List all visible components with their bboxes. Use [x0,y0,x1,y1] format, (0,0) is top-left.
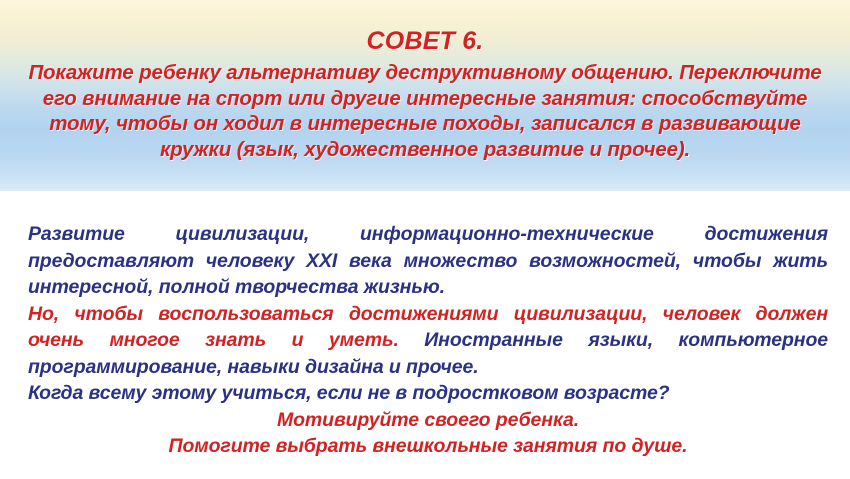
header-banner: СОВЕТ 6. Покажите ребенку альтернативу д… [0,0,850,191]
call-to-action-help-choose: Помогите выбрать внешкольные занятия по … [28,433,828,460]
body-content-area: Развитие цивилизации, информационно-техн… [0,191,850,479]
slide-root: СОВЕТ 6. Покажите ребенку альтернативу д… [0,0,850,479]
advice-number-title: СОВЕТ 6. [367,27,484,55]
paragraph-when-to-learn-question: Когда всему этому учиться, если не в под… [28,380,828,407]
advice-body-text: Покажите ребенку альтернативу деструктив… [18,60,833,162]
call-to-action-motivate: Мотивируйте своего ребенка. [28,407,828,434]
paragraph-must-know-and-be-able: Но, чтобы воспользоваться достижениями ц… [28,301,828,381]
paragraph-civilization-development: Развитие цивилизации, информационно-техн… [28,221,828,301]
